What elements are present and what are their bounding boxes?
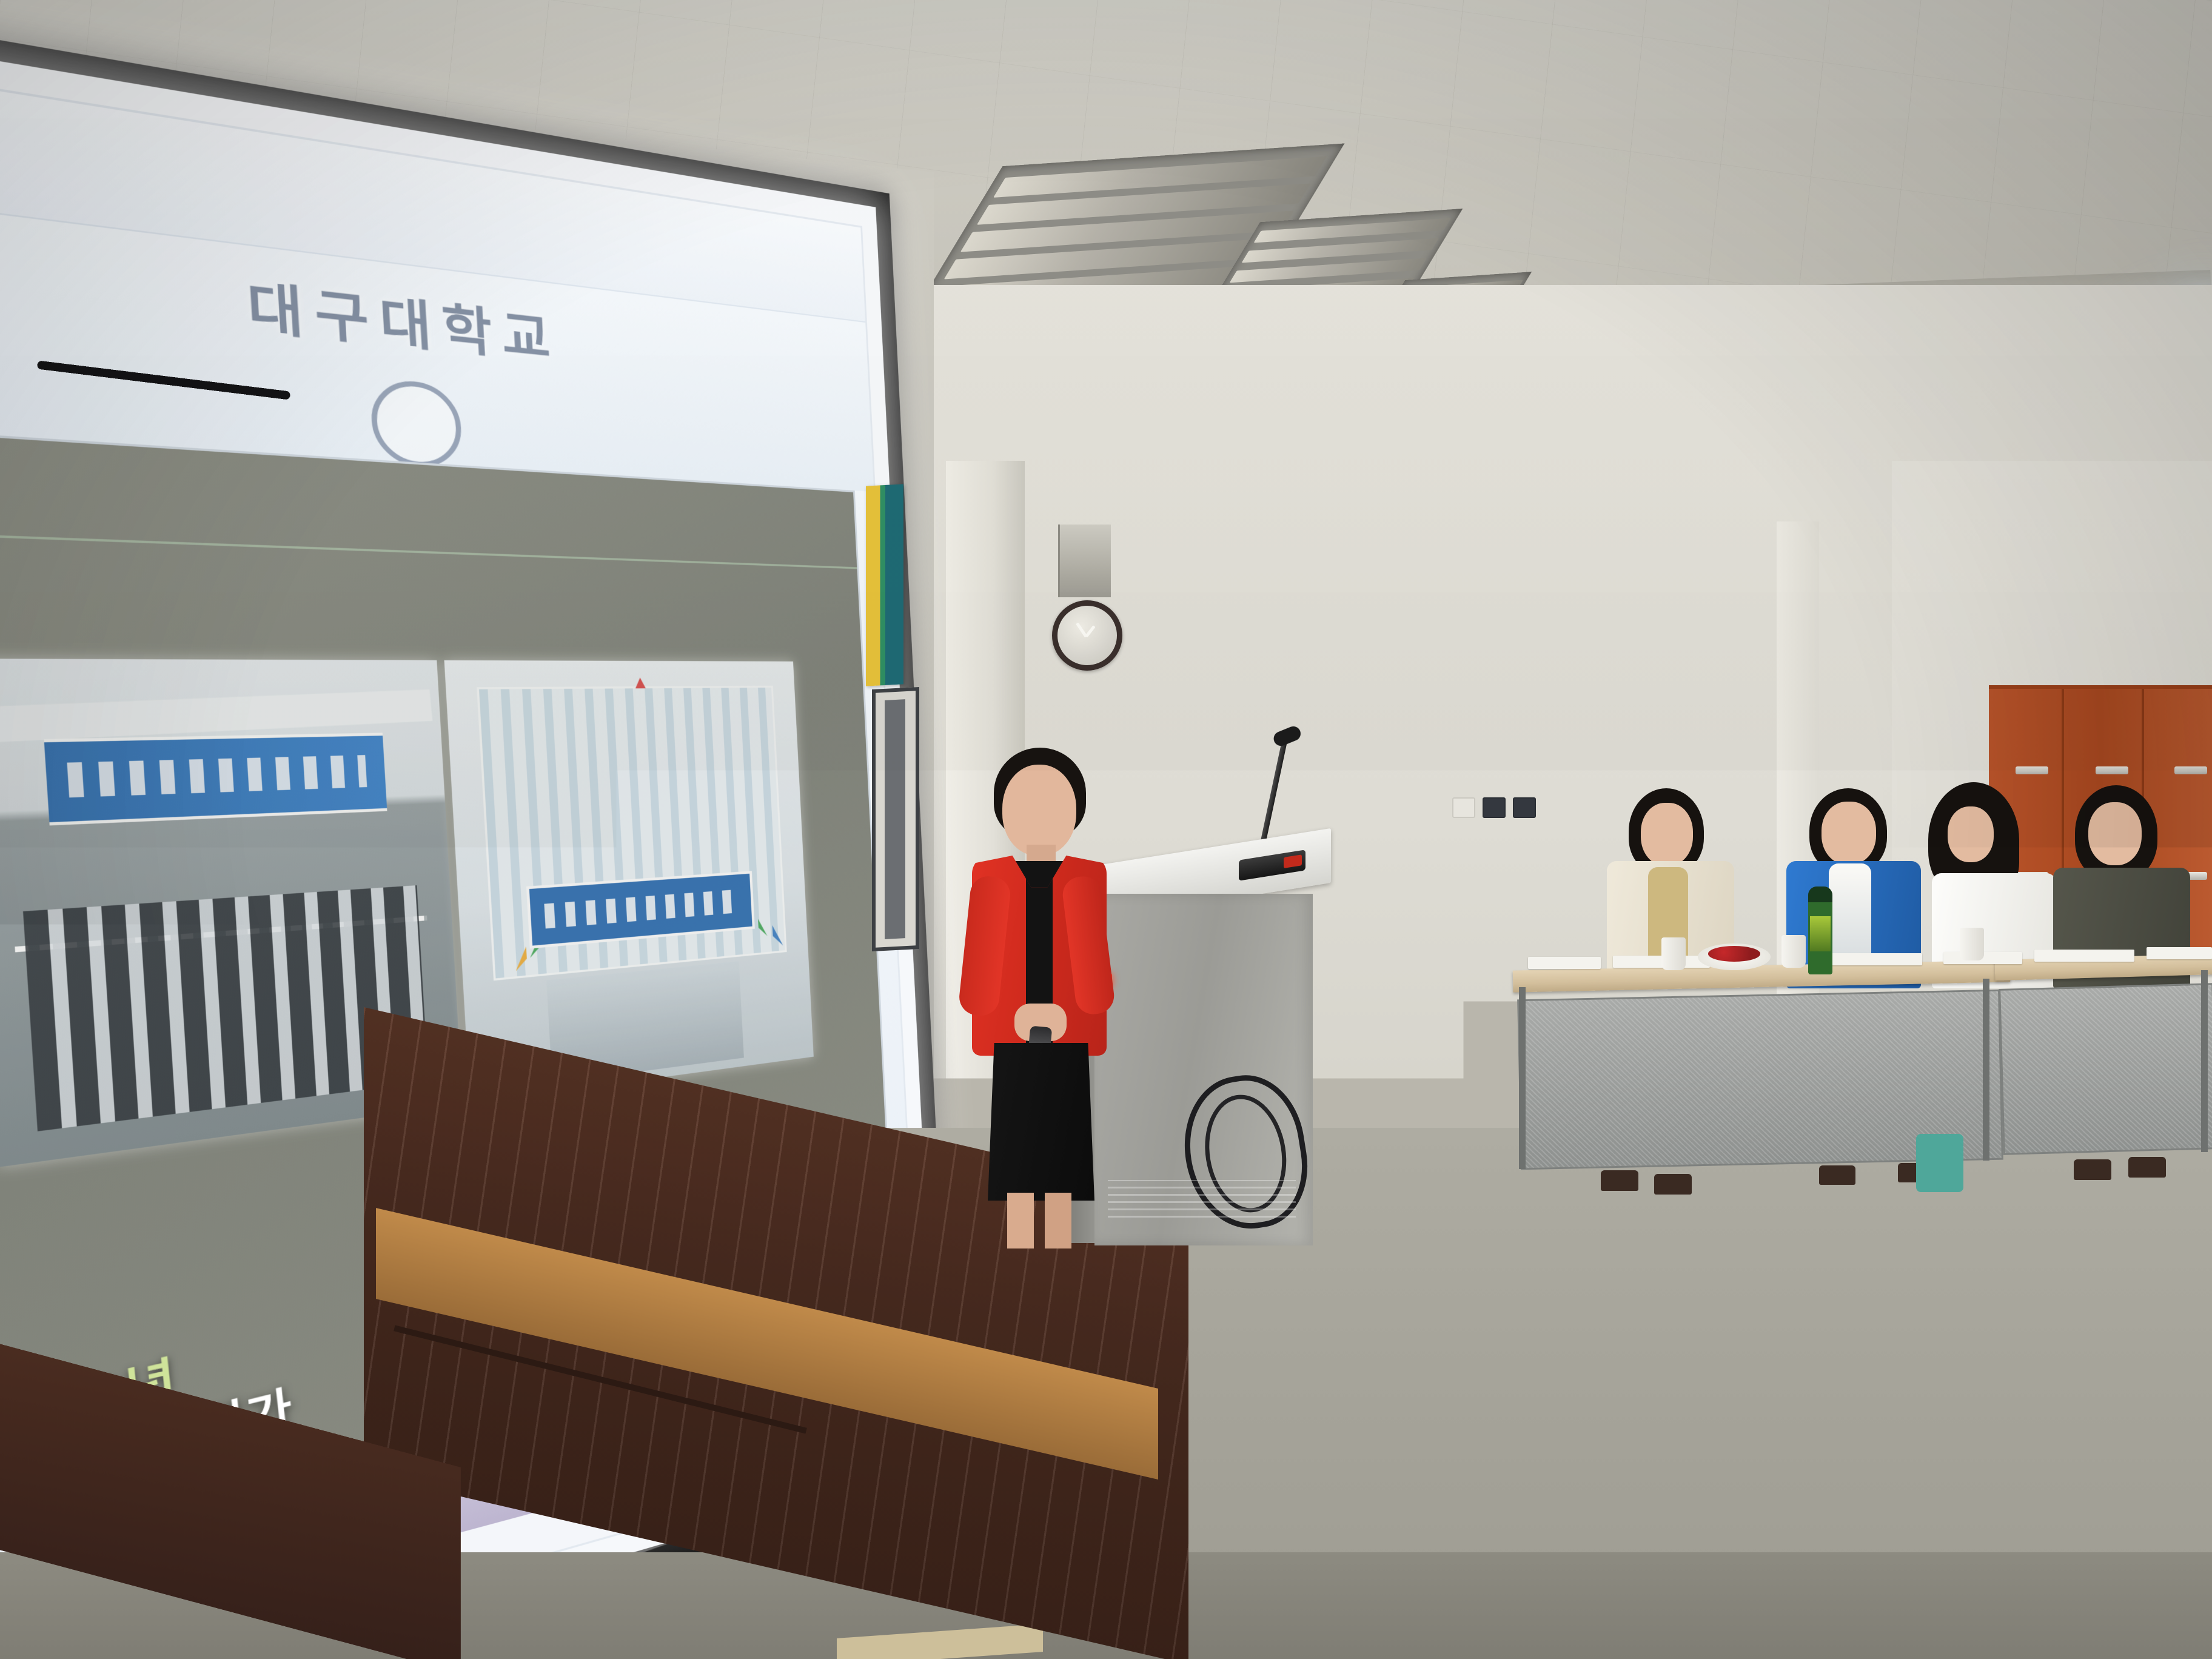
wall-speaker-icon xyxy=(1058,525,1111,597)
attendee-shoe xyxy=(1601,1170,1638,1191)
presenter-face xyxy=(1002,765,1076,856)
attendee-shoe xyxy=(1654,1174,1692,1195)
wall-clock-icon xyxy=(1052,600,1122,671)
document-paper xyxy=(1528,957,1601,969)
attendee-bag xyxy=(1916,1134,1963,1192)
attendee-shoe xyxy=(2074,1159,2111,1180)
presenter-leg xyxy=(1007,1193,1034,1248)
lectern xyxy=(1094,849,1328,1252)
paper-cup xyxy=(1781,935,1806,968)
framed-notice-board xyxy=(872,687,919,951)
attendee-shoe xyxy=(2128,1157,2166,1178)
presenter-leg xyxy=(1045,1193,1071,1248)
lectern-front-panel xyxy=(1094,894,1313,1245)
paper-cup xyxy=(1960,928,1984,960)
beverage-bottle xyxy=(1808,886,1832,974)
attendee-shoe xyxy=(1819,1165,1855,1185)
campus-building-rainbow-arch-photo xyxy=(444,660,814,1103)
slide-title: 대구대학교 xyxy=(244,262,561,374)
slide-hairline xyxy=(0,529,857,569)
document-paper xyxy=(2034,950,2134,962)
vertical-banner xyxy=(866,484,903,686)
presenter-skirt xyxy=(988,1043,1094,1201)
university-logo-icon xyxy=(369,378,464,470)
table-leg xyxy=(1519,987,1526,1169)
wall-outlet-plate xyxy=(1452,796,1543,820)
table-leg xyxy=(2201,970,2208,1152)
fruit-plate xyxy=(1698,943,1771,970)
table-modesty-panel xyxy=(1999,983,2212,1155)
seminar-room-photo: 대구대학교 xyxy=(0,0,2212,1659)
table-leg xyxy=(1983,979,1989,1161)
paper-cup xyxy=(1661,937,1686,970)
lectern-vent-slots xyxy=(1108,1180,1296,1218)
presenter xyxy=(949,737,1125,1240)
document-paper xyxy=(1831,953,1922,965)
document-paper xyxy=(2147,947,2212,959)
